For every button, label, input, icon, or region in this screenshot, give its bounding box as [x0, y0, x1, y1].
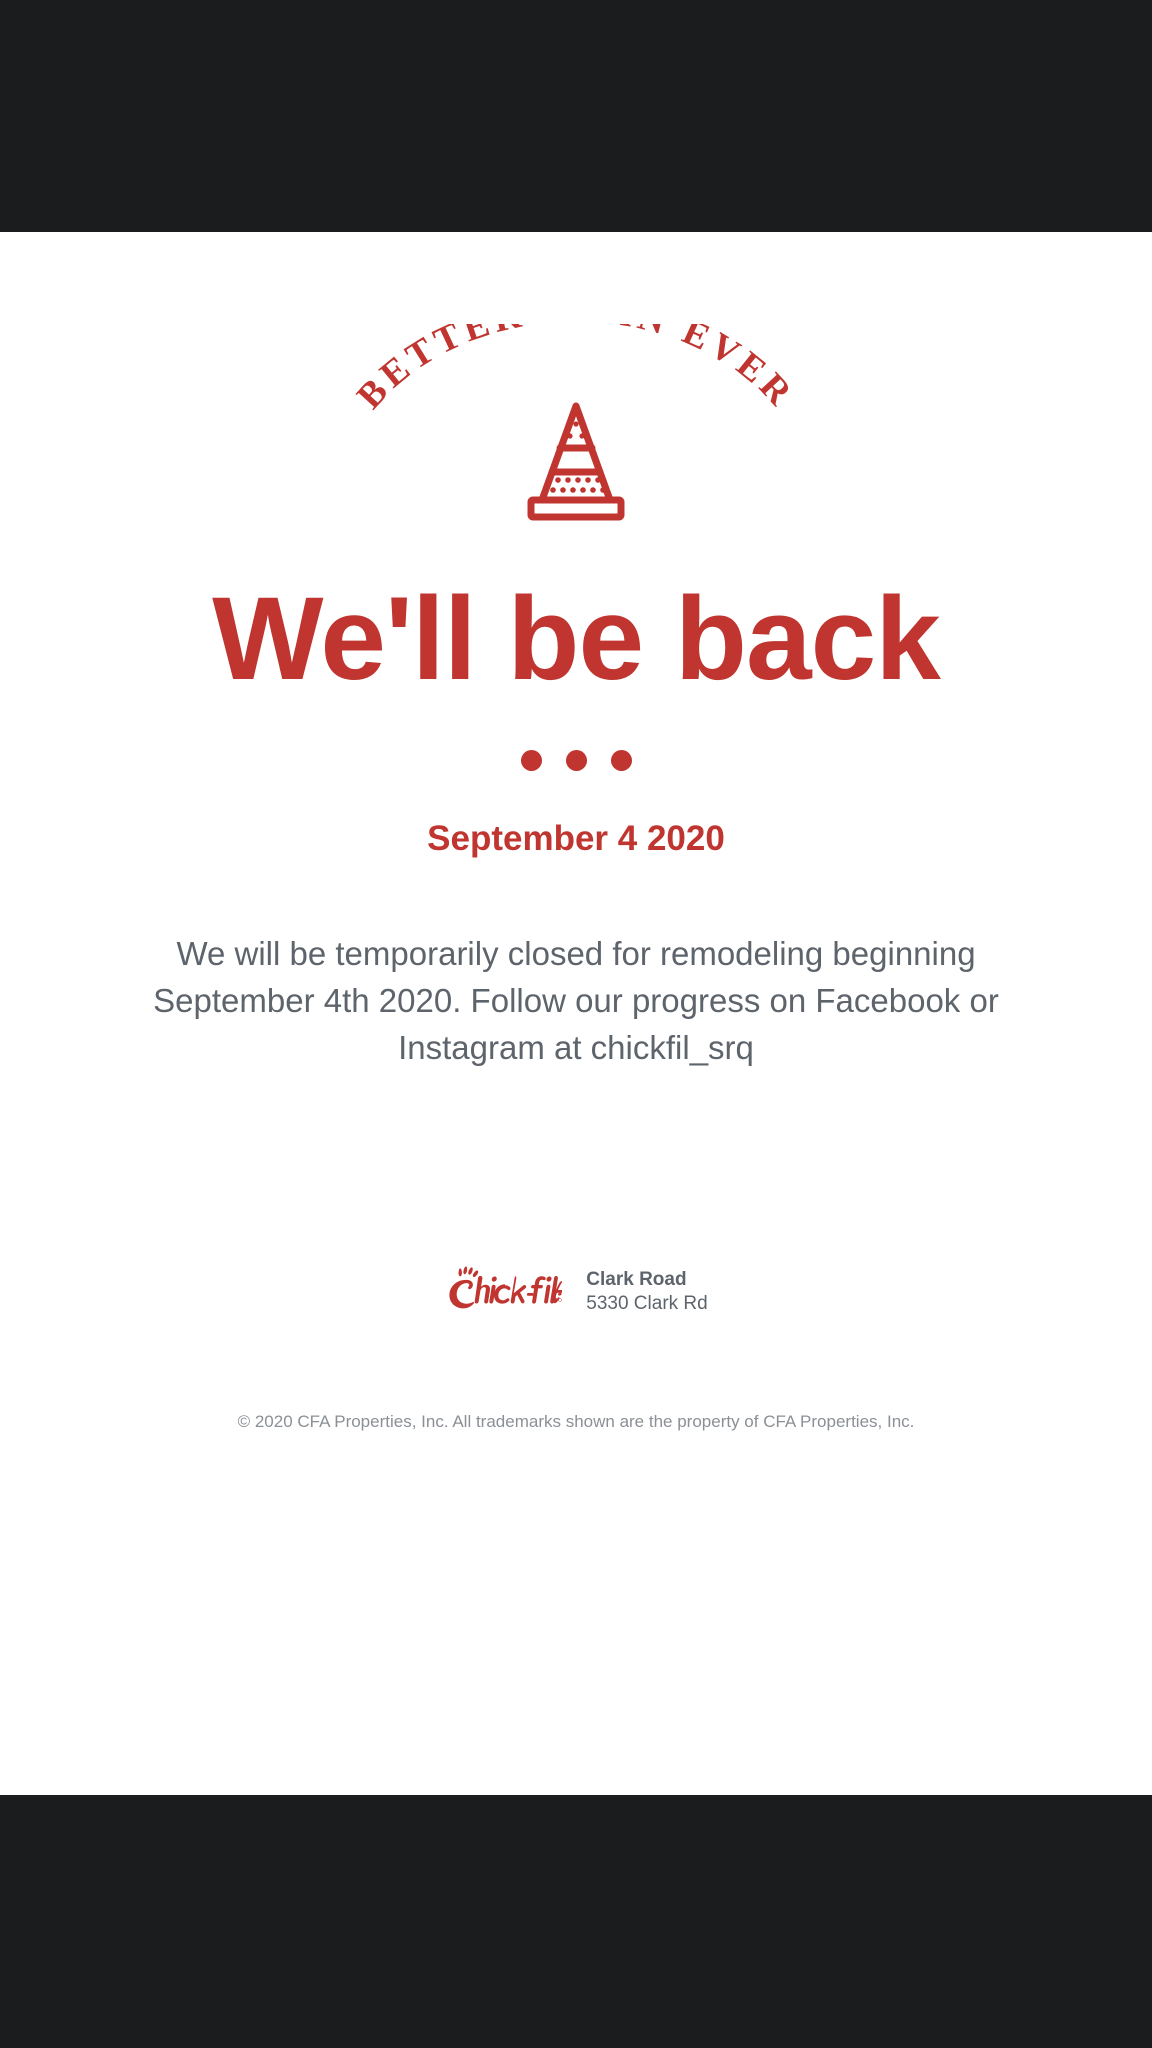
traffic-cone-graphic [524, 396, 628, 524]
separator-dot [521, 750, 542, 771]
page-title: We'll be back [212, 580, 940, 698]
location-address: 5330 Clark Rd [586, 1292, 707, 1316]
browser-chrome-top [0, 0, 1152, 232]
better-than-ever-badge: BETTER THAN EVER [336, 324, 816, 524]
location-text: Clark Road 5330 Clark Rd [586, 1262, 707, 1317]
separator-dot [611, 750, 632, 771]
browser-chrome-bottom [0, 1795, 1152, 2048]
cone-dots-lower [550, 477, 606, 493]
separator-dot [566, 750, 587, 771]
closure-message: We will be temporarily closed for remode… [126, 931, 1026, 1072]
chick-fil-a-logo [444, 1263, 562, 1315]
device-screen: BETTER THAN EVER [0, 0, 1152, 2048]
traffic-cone-icon [524, 396, 628, 524]
location-name: Clark Road [586, 1268, 707, 1292]
reopen-date: September 4 2020 [427, 819, 725, 859]
location-block: Clark Road 5330 Clark Rd [444, 1262, 707, 1317]
page-content: BETTER THAN EVER [0, 232, 1152, 1795]
dots-separator [521, 750, 632, 771]
copyright-notice: © 2020 CFA Properties, Inc. All trademar… [238, 1412, 915, 1432]
